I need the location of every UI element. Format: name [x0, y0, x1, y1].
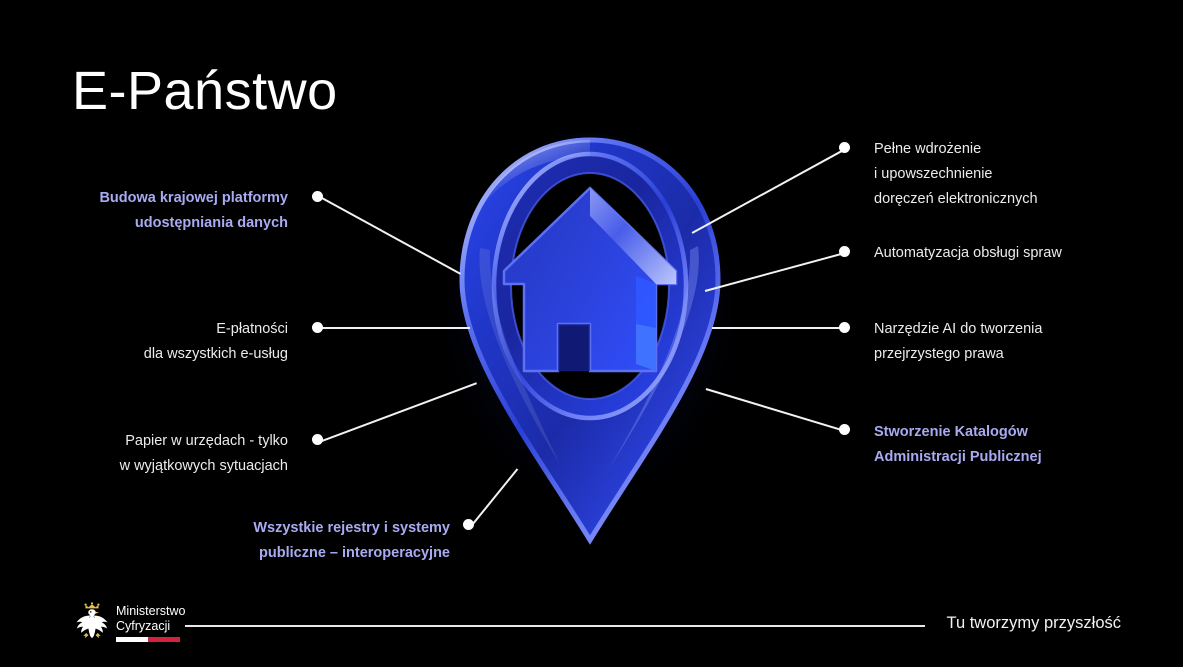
polish-eagle-emblem-icon — [72, 601, 112, 643]
callout-automatyzacja-obslugi-spraw: Automatyzacja obsługi spraw — [874, 241, 1062, 266]
callout-doreczenia-elektroniczne: Pełne wdrożenie i upowszechnienie doręcz… — [874, 137, 1038, 212]
callout-line: Budowa krajowej platformy — [0, 186, 288, 211]
connector-dot-budowa — [312, 191, 323, 202]
ministry-name-line1: Ministerstwo — [116, 604, 185, 619]
connector-line-ai — [712, 327, 845, 329]
callout-line: E-płatności — [0, 317, 288, 342]
connector-dot-papier — [312, 434, 323, 445]
callout-budowa-krajowej-platformy: Budowa krajowej platformy udostępniania … — [0, 186, 288, 236]
callout-line: Administracji Publicznej — [874, 445, 1042, 470]
page-title: E-Państwo — [72, 62, 338, 121]
map-pin-with-house-icon — [440, 128, 740, 553]
footer-tagline: Tu tworzymy przyszłość — [947, 614, 1122, 633]
callout-papier-w-urzedach: Papier w urzędach - tylko w wyjątkowych … — [0, 429, 288, 479]
callout-line: doręczeń elektronicznych — [874, 187, 1038, 212]
callout-line: w wyjątkowych sytuacjach — [0, 454, 288, 479]
callout-line: Stworzenie Katalogów — [874, 420, 1042, 445]
ministry-name: Ministerstwo Cyfryzacji — [116, 604, 185, 633]
polish-flag-bar — [116, 637, 180, 642]
callout-e-platnosci: E-płatności dla wszystkich e-usług — [0, 317, 288, 367]
flag-white-half — [116, 637, 148, 642]
callout-line: publiczne – interoperacyjne — [0, 541, 450, 566]
callout-line: Narzędzie AI do tworzenia — [874, 317, 1042, 342]
connector-dot-doreczenia — [839, 142, 850, 153]
connector-dot-katalogi — [839, 424, 850, 435]
callout-line: udostępniania danych — [0, 211, 288, 236]
callout-katalogi-administracji: Stworzenie Katalogów Administracji Publi… — [874, 420, 1042, 470]
connector-dot-ai — [839, 322, 850, 333]
callout-line: dla wszystkich e-usług — [0, 342, 288, 367]
callout-line: i upowszechnienie — [874, 162, 1038, 187]
footer-divider — [185, 625, 925, 627]
slide-canvas: E-Państwo — [0, 0, 1183, 667]
connector-dot-eplatnosci — [312, 322, 323, 333]
callout-narzedzie-ai: Narzędzie AI do tworzenia przejrzystego … — [874, 317, 1042, 367]
callout-line: Wszystkie rejestry i systemy — [0, 516, 450, 541]
callout-line: Papier w urzędach - tylko — [0, 429, 288, 454]
flag-red-half — [148, 637, 180, 642]
callout-line: Pełne wdrożenie — [874, 137, 1038, 162]
ministry-logo: Ministerstwo Cyfryzacji — [72, 601, 180, 647]
callout-line: przejrzystego prawa — [874, 342, 1042, 367]
callout-rejestry-interoperacyjne: Wszystkie rejestry i systemy publiczne –… — [0, 516, 450, 566]
ministry-name-line2: Cyfryzacji — [116, 619, 185, 634]
connector-dot-rejestry — [463, 519, 474, 530]
connector-dot-automatyzacja — [839, 246, 850, 257]
connector-line-eplatnosci — [322, 327, 470, 329]
callout-line: Automatyzacja obsługi spraw — [874, 241, 1062, 266]
